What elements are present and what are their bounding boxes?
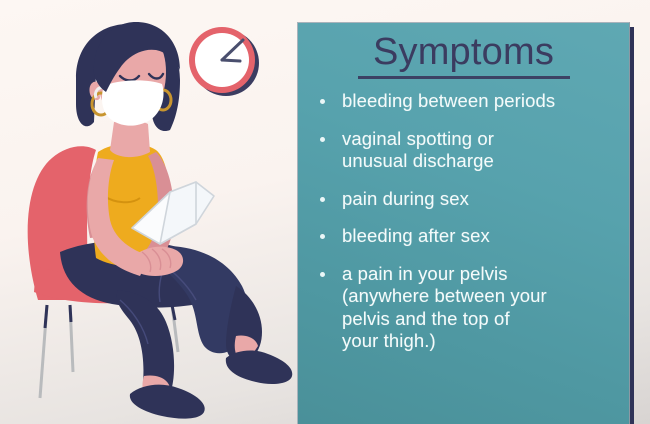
- bullet-line: (anywhere between your: [342, 285, 619, 308]
- list-item: bleeding after sex: [318, 225, 619, 248]
- bullet-dot-icon: [320, 234, 325, 239]
- wall-clock-icon: [189, 27, 259, 96]
- bullet-dot-icon: [320, 137, 325, 142]
- list-item: pain during sex: [318, 188, 619, 211]
- neck: [110, 121, 150, 157]
- bullet-line: pelvis and the top of: [342, 308, 619, 331]
- bullet-dot-icon: [320, 197, 325, 202]
- bullet-line: bleeding after sex: [342, 225, 619, 248]
- bullet-line: a pain in your pelvis: [342, 263, 619, 286]
- list-item: a pain in your pelvis (anywhere between …: [318, 263, 619, 353]
- slide-canvas: Symptoms bleeding between periods vagina…: [0, 0, 650, 424]
- upper-shoe: [226, 351, 292, 384]
- bullet-line: pain during sex: [342, 188, 619, 211]
- bullet-line: vaginal spotting or: [342, 128, 619, 151]
- lower-shoe: [130, 385, 205, 419]
- bullet-dot-icon: [320, 272, 325, 277]
- page-title: Symptoms: [298, 29, 629, 75]
- bullet-line: bleeding between periods: [342, 90, 619, 113]
- bullet-line: unusual discharge: [342, 150, 619, 173]
- symptoms-panel: Symptoms bleeding between periods vagina…: [297, 22, 630, 424]
- symptoms-list: bleeding between periods vaginal spottin…: [298, 90, 629, 353]
- list-item: bleeding between periods: [318, 90, 619, 113]
- bullet-line: your thigh.): [342, 330, 619, 353]
- illustration-seated-woman: [0, 0, 300, 424]
- list-item: vaginal spotting or unusual discharge: [318, 128, 619, 173]
- bullet-dot-icon: [320, 99, 325, 104]
- title-underline: [358, 76, 570, 79]
